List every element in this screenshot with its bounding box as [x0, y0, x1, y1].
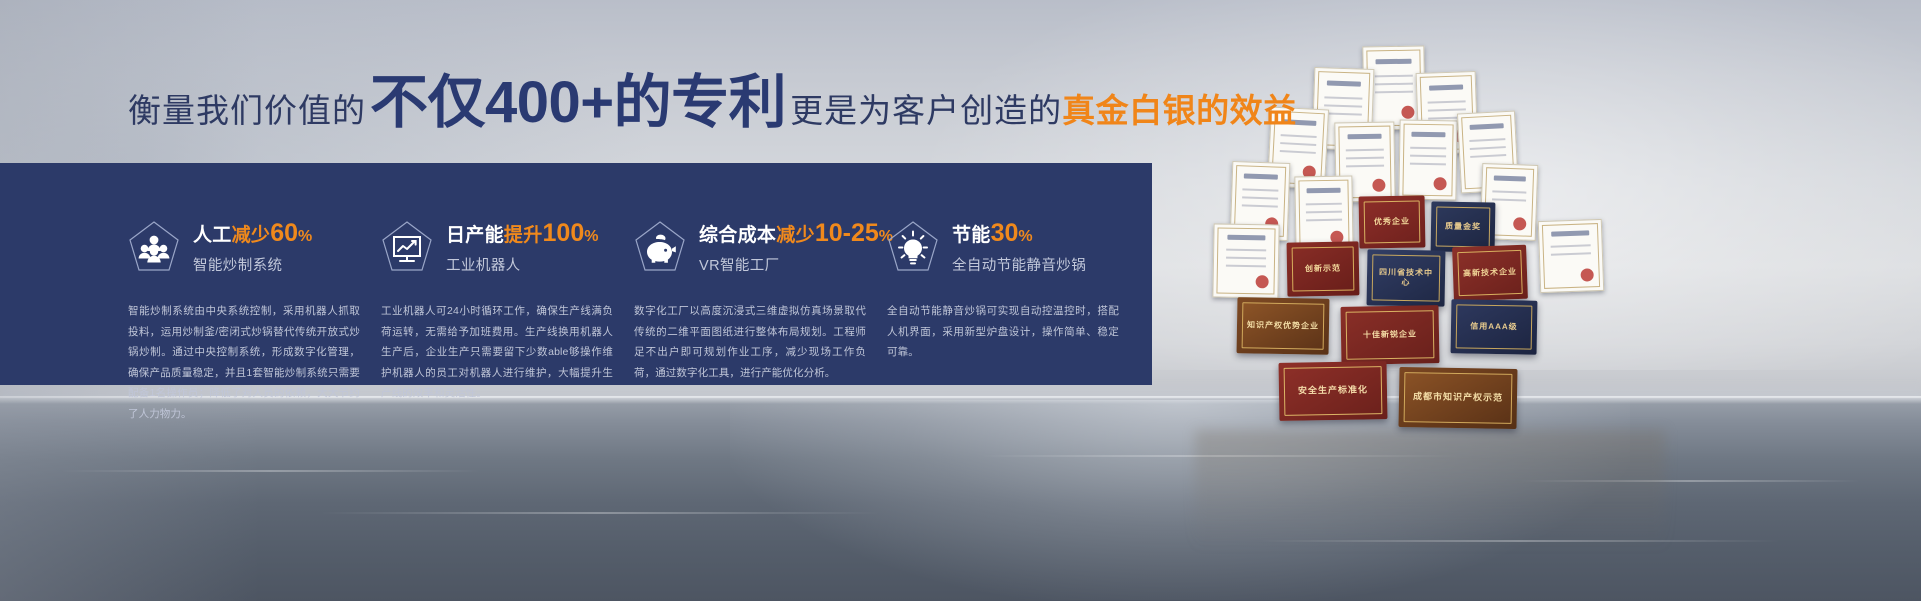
feature-title-white: 综合成本 [699, 225, 776, 246]
plaque-text: 信用AAA级 [1467, 321, 1521, 332]
feature-header: 综合成本减少10-25% VR智能工厂 [634, 218, 865, 275]
award-plaque: 知识产权优势企业 [1237, 297, 1330, 355]
feature-description: 全自动节能静音炒锅可实现自动控温控时，搭配人机界面，采用新型炉盘设计，操作简单、… [887, 301, 1119, 362]
award-plaque: 四川省技术中心 [1367, 249, 1446, 306]
plaque-text: 优秀企业 [1371, 216, 1413, 227]
feature-item[interactable]: 综合成本减少10-25% VR智能工厂 数字化工厂以高度沉浸式三维虚拟仿真场景取… [634, 218, 887, 424]
feature-title: 日产能提升100% [446, 220, 598, 246]
feature-value: 30 [991, 219, 1019, 247]
feature-text: 日产能提升100% 工业机器人 [446, 218, 598, 275]
award-plaque: 优秀企业 [1359, 195, 1426, 248]
headline-lead: 衡量我们价值的 [128, 94, 366, 127]
lightbulb-icon [887, 220, 939, 274]
chart-board-icon [381, 220, 433, 274]
feature-header: 日产能提升100% 工业机器人 [381, 218, 612, 275]
headline-highlight: 真金白银的效益 [1062, 94, 1297, 127]
feature-title: 节能30% [952, 220, 1086, 246]
feature-subtitle: VR智能工厂 [699, 254, 893, 275]
award-plaque: 质量金奖 [1431, 201, 1496, 252]
features-panel: 人工减少60% 智能炒制系统 智能炒制系统由中央系统控制，采用机器人抓取投料，运… [0, 163, 1152, 385]
plaque-text: 十佳新锐企业 [1360, 329, 1420, 340]
award-plaque: 创新示范 [1287, 241, 1360, 296]
plaque-text: 安全生产标准化 [1295, 384, 1371, 397]
plaque-text: 质量金奖 [1442, 221, 1484, 232]
certificate-paper [1398, 119, 1457, 200]
feature-value: 100 [543, 219, 585, 247]
feature-subtitle: 工业机器人 [446, 254, 598, 275]
feature-value: 60 [270, 219, 298, 247]
award-plaque: 高新技术企业 [1452, 245, 1528, 302]
feature-item[interactable]: 节能30% 全自动节能静音炒锅 全自动节能静音炒锅可实现自动控温控时，搭配人机界… [887, 218, 1140, 424]
plaque-text: 四川省技术中心 [1373, 267, 1439, 289]
feature-title-white: 人工 [193, 225, 232, 246]
piggy-bank-icon [634, 220, 686, 274]
feature-title: 人工减少60% [193, 220, 312, 246]
feature-unit: % [584, 228, 598, 245]
award-plaque: 信用AAA级 [1451, 299, 1538, 354]
feature-header: 人工减少60% 智能炒制系统 [128, 218, 359, 275]
people-group-icon [128, 220, 180, 274]
certificate-paper [1538, 219, 1604, 293]
feature-title-white: 节能 [952, 225, 991, 246]
feature-text: 综合成本减少10-25% VR智能工厂 [699, 218, 893, 275]
feature-title-white: 日产能 [446, 225, 504, 246]
feature-text: 节能30% 全自动节能静音炒锅 [952, 218, 1086, 275]
feature-description: 数字化工厂以高度沉浸式三维虚拟仿真场景取代传统的二维平面图纸进行整体布局规划。工… [634, 301, 866, 383]
features-list: 人工减少60% 智能炒制系统 智能炒制系统由中央系统控制，采用机器人抓取投料，运… [128, 218, 1128, 424]
feature-title-orange: 减少 [232, 225, 271, 246]
feature-header: 节能30% 全自动节能静音炒锅 [887, 218, 1118, 275]
plaque-text: 知识产权优势企业 [1244, 320, 1322, 332]
feature-title-orange: 减少 [776, 225, 815, 246]
feature-unit: % [1018, 228, 1032, 245]
feature-subtitle: 全自动节能静音炒锅 [952, 254, 1086, 275]
award-plaque: 安全生产标准化 [1279, 361, 1388, 421]
feature-description: 智能炒制系统由中央系统控制，采用机器人抓取投料，运用炒制釜/密闭式炒锅替代传统开… [128, 301, 360, 424]
feature-item[interactable]: 人工减少60% 智能炒制系统 智能炒制系统由中央系统控制，采用机器人抓取投料，运… [128, 218, 381, 424]
feature-description: 工业机器人可24小时循环工作，确保生产线满负荷运转，无需给予加班费用。生产线换用… [381, 301, 613, 403]
feature-subtitle: 智能炒制系统 [193, 254, 312, 275]
feature-unit: % [298, 228, 312, 245]
headline-middle: 更是为客户创造的 [790, 94, 1062, 127]
plaque-text: 高新技术企业 [1460, 267, 1520, 279]
feature-value: 10-25 [815, 219, 879, 247]
water-streak [320, 512, 880, 514]
award-plaque: 成都市知识产权示范 [1398, 367, 1517, 429]
certificate-paper [1212, 223, 1279, 298]
feature-title-orange: 提升 [504, 225, 543, 246]
award-plaque: 十佳新锐企业 [1341, 305, 1440, 365]
feature-text: 人工减少60% 智能炒制系统 [193, 218, 312, 275]
plaque-text: 成都市知识产权示范 [1410, 391, 1506, 404]
headline-emphasis: 不仅400+的专利 [370, 74, 786, 132]
feature-item[interactable]: 日产能提升100% 工业机器人 工业机器人可24小时循环工作，确保生产线满负荷运… [381, 218, 634, 424]
plaque-text: 创新示范 [1302, 263, 1344, 274]
page-headline: 衡量我们价值的 不仅400+的专利 更是为客户创造的 真金白银的效益 [128, 74, 1297, 132]
feature-title: 综合成本减少10-25% [699, 220, 893, 246]
